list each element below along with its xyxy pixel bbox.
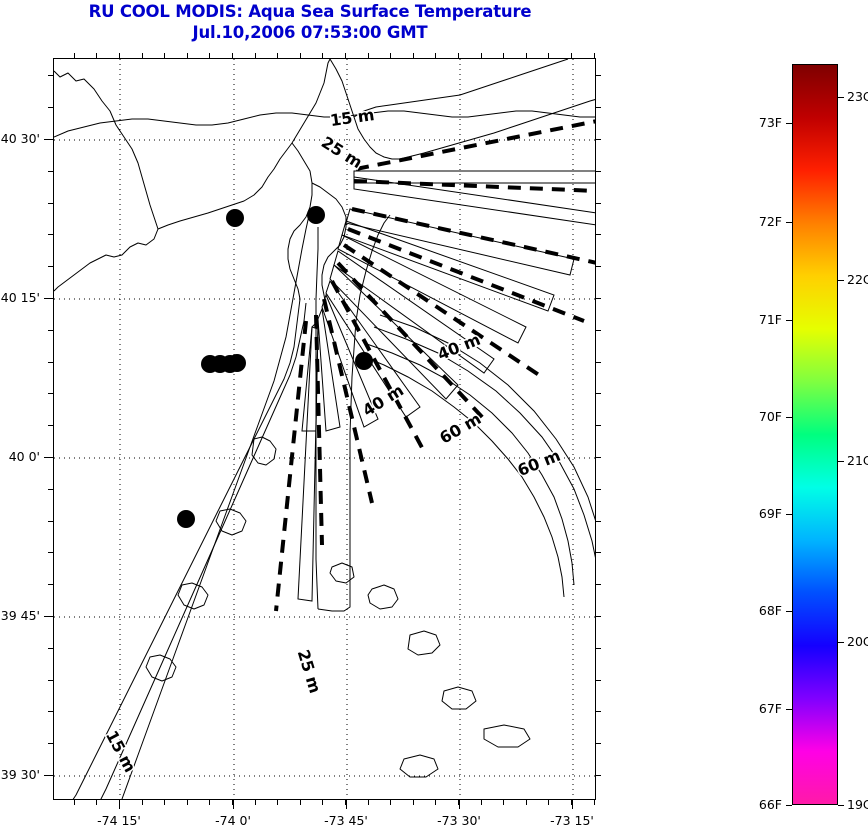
x-axis-minor-tick [209,800,210,805]
x-axis-label: -73 15' [527,813,617,828]
x-axis-minor-tick [594,53,595,58]
station-dot[interactable] [228,354,246,372]
x-axis-minor-tick [209,53,210,58]
y-axis-minor-tick [596,552,601,553]
colorbar-label-fahrenheit: 69F [712,506,782,521]
x-axis-minor-tick [277,53,278,58]
x-axis-minor-tick [368,53,369,58]
y-axis-minor-tick [596,489,601,490]
x-axis-minor-tick [435,800,436,805]
colorbar-tick-c [838,97,844,98]
depth-contour-labels: 15 m25 m40 m40 m60 m60 m25 m15 m [102,105,563,775]
depth-label: 60 m [515,446,563,480]
x-axis-minor-tick [187,800,188,805]
y-axis-label: 39 30' [0,767,40,782]
x-axis-minor-tick [322,800,323,805]
map-graphics: 15 m25 m40 m40 m60 m60 m25 m15 m [54,59,596,800]
x-axis-tick [572,800,573,809]
colorbar-tick-c [838,642,844,643]
x-axis-label: -74 15' [74,813,164,828]
y-axis-minor-tick [48,393,53,394]
y-axis-minor-tick [48,680,53,681]
map-plot-area[interactable]: 15 m25 m40 m40 m60 m60 m25 m15 m [53,58,596,800]
colorbar-label-fahrenheit: 68F [712,603,782,618]
x-axis-minor-tick [435,53,436,58]
x-axis-minor-tick [503,800,504,805]
colorbar-tick-c [838,280,844,281]
station-dot[interactable] [226,209,244,227]
x-axis-minor-tick [164,800,165,805]
y-axis-minor-tick [48,489,53,490]
y-axis-tick [44,298,53,299]
depth-label: 15 m [102,727,140,775]
x-axis-minor-tick [300,53,301,58]
page-subtitle: Jul.10,2006 07:53:00 GMT [0,22,620,43]
y-axis-minor-tick [596,298,601,299]
x-axis-tick [346,800,347,809]
x-axis-minor-tick [390,800,391,805]
y-axis-minor-tick [48,107,53,108]
y-axis-tick [44,457,53,458]
colorbar-tick-f [786,709,792,710]
y-axis-minor-tick [596,234,601,235]
x-axis-minor-tick [255,800,256,805]
x-axis-minor-tick [526,800,527,805]
x-axis-minor-tick [548,800,549,805]
x-axis-tick [119,800,120,809]
y-axis-minor-tick [48,362,53,363]
colorbar-label-fahrenheit: 66F [712,797,782,812]
colorbar-tick-f [786,222,792,223]
colorbar-label-fahrenheit: 71F [712,312,782,327]
depth-label: 15 m [329,105,376,130]
colorbar-label-celsius: 20C [847,634,868,649]
x-axis-minor-tick [232,53,233,58]
colorbar-tick-f [786,123,792,124]
colorbar-label-fahrenheit: 70F [712,409,782,424]
y-axis-minor-tick [596,139,601,140]
y-axis-minor-tick [596,680,601,681]
x-axis-label: -73 45' [301,813,391,828]
x-axis-minor-tick [526,53,527,58]
colorbar-tick-f [786,805,792,806]
colorbar-label-celsius: 22C [847,272,868,287]
colorbar-label-fahrenheit: 67F [712,701,782,716]
colorbar-tick-f [786,320,792,321]
y-axis-minor-tick [48,711,53,712]
x-axis-minor-tick [481,53,482,58]
y-axis-minor-tick [596,107,601,108]
y-axis-label: 39 45' [0,608,40,623]
y-axis-minor-tick [596,775,601,776]
x-axis-minor-tick [594,800,595,805]
x-axis-minor-tick [96,53,97,58]
colorbar-label-fahrenheit: 72F [712,214,782,229]
x-axis-minor-tick [413,53,414,58]
x-axis-minor-tick [322,53,323,58]
y-axis-tick [44,775,53,776]
x-axis-minor-tick [368,800,369,805]
y-axis-tick [44,616,53,617]
y-axis-minor-tick [48,521,53,522]
x-axis-minor-tick [481,800,482,805]
y-axis-label: 40 30' [0,131,40,146]
x-axis-minor-tick [390,53,391,58]
x-axis-minor-tick [300,800,301,805]
y-axis-minor-tick [48,203,53,204]
x-axis-minor-tick [96,800,97,805]
x-axis-minor-tick [413,800,414,805]
y-axis-tick [44,139,53,140]
y-axis-minor-tick [596,171,601,172]
page-title: RU COOL MODIS: Aqua Sea Surface Temperat… [0,0,620,22]
y-axis-label: 40 15' [0,290,40,305]
y-axis-minor-tick [596,743,601,744]
depth-label: 25 m [294,647,325,695]
y-axis-minor-tick [48,584,53,585]
y-axis-minor-tick [48,266,53,267]
x-axis-minor-tick [119,53,120,58]
colorbar-label-celsius: 21C [847,453,868,468]
depth-label: 25 m [318,132,366,172]
x-axis-minor-tick [255,53,256,58]
y-axis-minor-tick [48,75,53,76]
x-axis-minor-tick [187,53,188,58]
x-axis-minor-tick [74,53,75,58]
x-axis-minor-tick [345,53,346,58]
colorbar-tick-f [786,514,792,515]
y-axis-minor-tick [48,330,53,331]
x-axis-minor-tick [74,800,75,805]
x-axis-minor-tick [548,53,549,58]
y-axis-minor-tick [596,75,601,76]
y-axis-label: 40 0' [0,449,40,464]
y-axis-minor-tick [48,648,53,649]
station-dot[interactable] [177,510,195,528]
colorbar-gradient[interactable] [792,64,838,805]
station-dot[interactable] [307,206,325,224]
y-axis-minor-tick [596,457,601,458]
y-axis-minor-tick [48,234,53,235]
colorbar-tick-f [786,417,792,418]
x-axis-minor-tick [458,53,459,58]
x-axis-minor-tick [571,53,572,58]
y-axis-minor-tick [596,711,601,712]
y-axis-minor-tick [596,330,601,331]
y-axis-minor-tick [596,648,601,649]
y-axis-minor-tick [596,616,601,617]
colorbar-container[interactable] [792,64,838,805]
dashed-transects [276,121,596,611]
y-axis-minor-tick [596,584,601,585]
isobath-15m [54,111,596,799]
colorbar-label-celsius: 23C [847,89,868,104]
colorbar-label-celsius: 19C [847,797,868,812]
x-axis-minor-tick [503,53,504,58]
y-axis-minor-tick [596,362,601,363]
colorbar-tick-c [838,805,844,806]
y-axis-minor-tick [596,203,601,204]
y-axis-minor-tick [596,521,601,522]
y-axis-minor-tick [596,425,601,426]
x-axis-minor-tick [142,800,143,805]
y-axis-minor-tick [48,171,53,172]
y-axis-minor-tick [48,425,53,426]
x-axis-label: -73 30' [414,813,504,828]
x-axis-label: -74 0' [188,813,278,828]
colorbar-label-fahrenheit: 73F [712,115,782,130]
station-dot[interactable] [355,352,373,370]
chart-title-block: RU COOL MODIS: Aqua Sea Surface Temperat… [0,0,620,43]
x-axis-minor-tick [277,800,278,805]
colorbar-tick-c [838,461,844,462]
x-axis-tick [459,800,460,809]
y-axis-minor-tick [596,266,601,267]
y-axis-minor-tick [596,393,601,394]
colorbar-tick-f [786,611,792,612]
x-axis-minor-tick [164,53,165,58]
x-axis-minor-tick [142,53,143,58]
y-axis-minor-tick [48,552,53,553]
y-axis-minor-tick [48,743,53,744]
depth-label: 40 m [359,380,407,420]
x-axis-tick [233,800,234,809]
